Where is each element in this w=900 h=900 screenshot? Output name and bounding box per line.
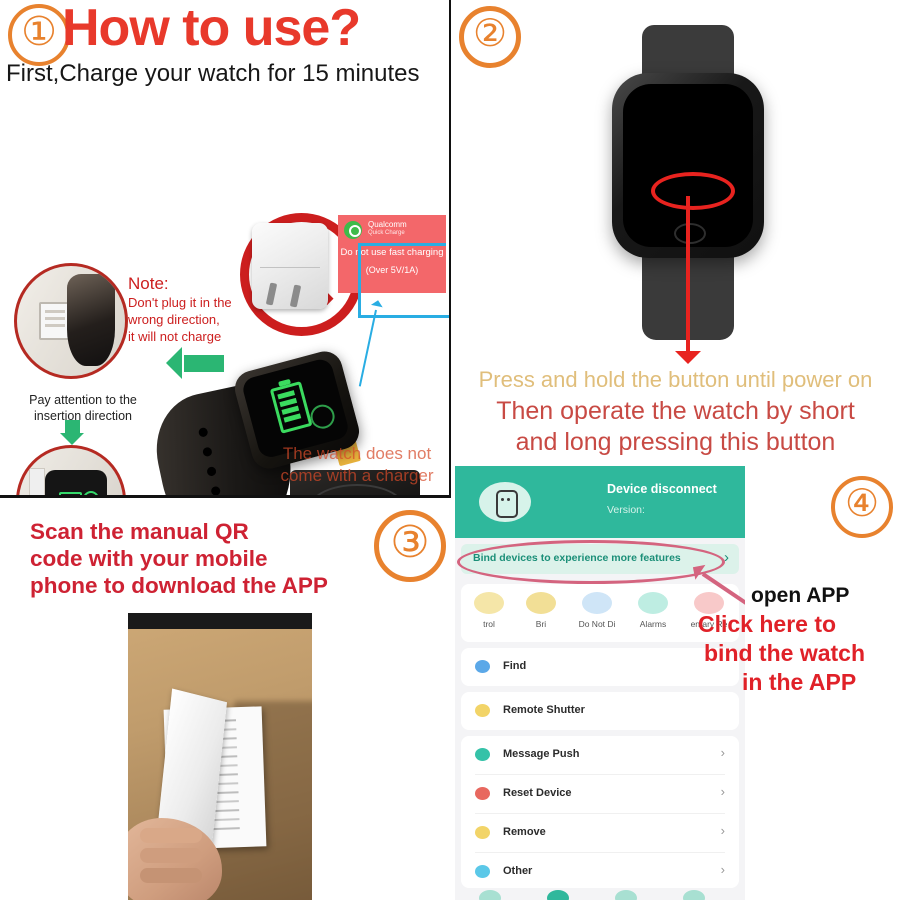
page-title: How to use? <box>62 0 360 58</box>
pay-attention-caption: Pay attention to the insertion direction <box>8 392 158 424</box>
quick-action-0-label: trol <box>461 619 517 629</box>
watch-home-button <box>674 223 706 244</box>
note-body: Don't plug it in the wrong direction, it… <box>128 295 232 344</box>
open-app-annotation: open APP <box>751 584 849 608</box>
unlink-icon <box>475 826 490 839</box>
nav-tab-0[interactable] <box>479 890 501 900</box>
quick-action-3-label: Alarms <box>625 619 681 629</box>
menu-item-message-push-label: Message Push <box>503 748 579 760</box>
find-icon <box>475 660 490 673</box>
do-not-disturb-icon <box>582 592 612 614</box>
app-header: Device disconnect Version: <box>455 466 745 538</box>
annotation-line-2: bind the watch <box>698 639 865 668</box>
panel2-instruction-primary: Press and hold the button until power on <box>451 367 900 393</box>
panel2-step-badge: ② <box>459 6 521 68</box>
camera-icon <box>475 704 490 717</box>
quick-action-1[interactable]: Bri <box>513 592 569 629</box>
annotation-line-1: Click here to <box>698 610 865 639</box>
note-title: Note: <box>128 275 232 292</box>
nav-tab-2[interactable] <box>615 890 637 900</box>
menu-group-remote-shutter: Remote Shutter <box>461 692 739 730</box>
quick-action-2[interactable]: Do Not Di <box>569 592 625 629</box>
reset-icon <box>475 787 490 800</box>
qualcomm-subtitle: Quick Charge <box>368 230 405 236</box>
quick-action-2-label: Do Not Di <box>569 619 625 629</box>
watch-avatar-icon <box>479 482 531 522</box>
menu-item-remote-shutter-label: Remote Shutter <box>503 704 585 716</box>
chevron-right-icon: › <box>721 784 725 799</box>
panel1-subtitle: First,Charge your watch for 15 minutes <box>6 60 420 88</box>
menu-item-remote-shutter[interactable]: Remote Shutter <box>461 692 739 730</box>
menu-item-remove[interactable]: Remove › <box>461 814 739 852</box>
chevron-right-icon: › <box>724 549 729 566</box>
wall-charger-photo <box>252 223 328 309</box>
correct-direction-photo <box>16 445 126 498</box>
quick-action-1-label: Bri <box>513 619 569 629</box>
manual-photo <box>128 613 312 900</box>
quick-action-3[interactable]: Alarms <box>625 592 681 629</box>
menu-item-other-label: Other <box>503 865 532 877</box>
nav-tab-3[interactable] <box>683 890 705 900</box>
menu-item-remove-label: Remove <box>503 826 546 838</box>
annotation-line-3: in the APP <box>698 668 865 697</box>
red-arrow-down-icon <box>686 196 690 354</box>
menu-group-settings: Message Push › Reset Device › Remove › O… <box>461 736 739 888</box>
menu-item-reset-device[interactable]: Reset Device › <box>461 775 739 813</box>
version-label: Version: <box>607 504 645 516</box>
quick-action-0[interactable]: trol <box>461 592 517 629</box>
menu-item-other[interactable]: Other › <box>461 853 739 891</box>
direction-note: Note: Don't plug it in the wrong directi… <box>128 275 232 345</box>
red-highlight-ellipse <box>651 172 735 210</box>
click-here-annotation: Click here to bind the watch in the APP <box>698 610 865 697</box>
pink-highlight-ellipse <box>457 540 725 584</box>
panel1-step-badge: ① <box>8 4 70 66</box>
more-icon <box>475 865 490 878</box>
chevron-right-icon: › <box>721 823 725 838</box>
brightness2-icon <box>526 592 556 614</box>
panel4-step-badge: ④ <box>831 476 893 538</box>
panel2-instruction-secondary: Then operate the watch by short and long… <box>451 396 900 458</box>
panel-how-to-use: ① How to use? First,Charge your watch fo… <box>0 0 451 498</box>
menu-item-reset-device-label: Reset Device <box>503 787 572 799</box>
no-charger-disclaimer: The watch does not come with a charger <box>262 443 451 487</box>
menu-item-find-label: Find <box>503 660 526 672</box>
panel3-title: Scan the manual QR code with your mobile… <box>30 518 328 599</box>
blue-highlight-box <box>358 243 451 318</box>
panel-bind-app: ④ Device disconnect Version: Bind device… <box>451 462 900 900</box>
panel1-illustration: Note: Don't plug it in the wrong directi… <box>0 95 449 495</box>
watch-charger-end <box>67 274 115 366</box>
power-button-icon <box>308 402 337 431</box>
send-icon <box>475 748 490 761</box>
chevron-right-icon: › <box>721 745 725 760</box>
menu-item-message-push[interactable]: Message Push › <box>461 736 739 774</box>
panel3-step-badge: ③ <box>374 510 446 582</box>
nav-tab-1[interactable] <box>547 890 569 900</box>
chevron-right-icon: › <box>721 862 725 877</box>
battery-level-icon <box>270 381 313 434</box>
panel-power-on: ② Press and hold the button until power … <box>451 0 900 462</box>
device-status-text: Device disconnect <box>607 482 717 496</box>
qualcomm-brand: Qualcomm <box>368 220 407 229</box>
alarms-icon <box>638 592 668 614</box>
brightness-icon <box>474 592 504 614</box>
wrong-direction-photo <box>14 263 128 379</box>
qualcomm-logo-icon <box>344 221 362 239</box>
app-bottom-nav <box>461 890 739 900</box>
